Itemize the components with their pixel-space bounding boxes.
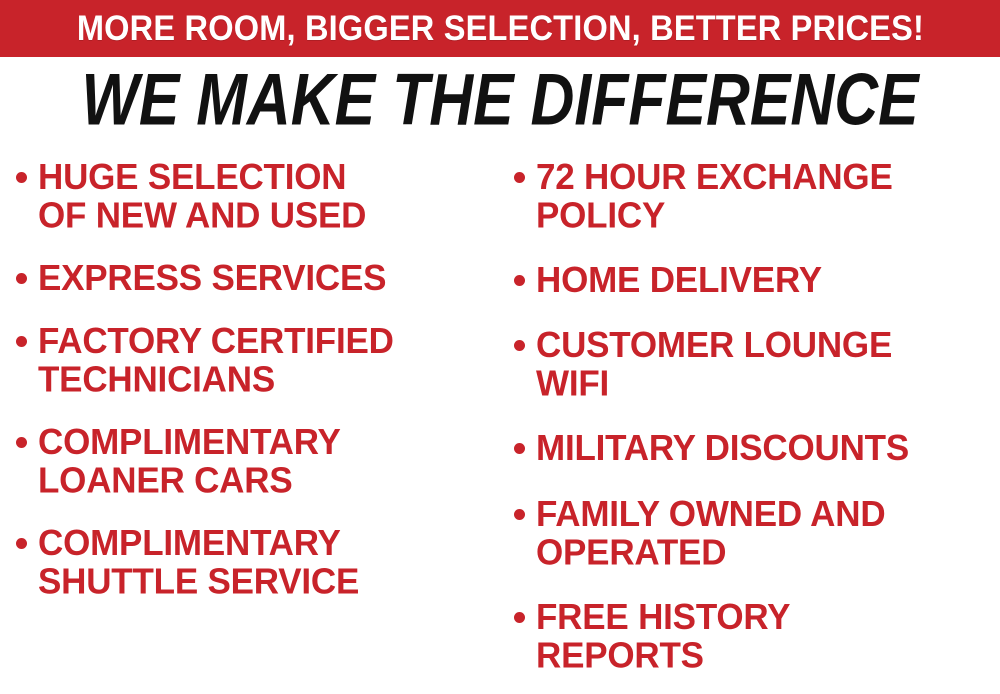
list-item-label: FACTORY CERTIFIED TECHNICIANS [38, 322, 394, 400]
list-item-label: 72 HOUR EXCHANGE POLICY [536, 158, 893, 236]
list-item-label: CUSTOMER LOUNGE WIFI [536, 326, 892, 404]
bullet-dot-icon [514, 275, 525, 286]
list-item-label: HOME DELIVERY [536, 261, 822, 300]
bullet-dot-icon [514, 340, 525, 351]
list-item: FREE HISTORY REPORTS [514, 598, 1000, 673]
banner-headline-text: MORE ROOM, BIGGER SELECTION, BETTER PRIC… [76, 11, 923, 46]
list-item: 72 HOUR EXCHANGE POLICY [514, 158, 1000, 233]
list-item-label: EXPRESS SERVICES [38, 259, 386, 298]
bullet-dot-icon [514, 443, 525, 454]
list-item-label: FAMILY OWNED AND OPERATED [536, 495, 885, 573]
list-item: MILITARY DISCOUNTS [514, 429, 1000, 466]
main-headline: WE MAKE THE DIFFERENCE [81, 64, 918, 137]
list-item-label: COMPLIMENTARY LOANER CARS [38, 423, 341, 501]
list-item: EXPRESS SERVICES [16, 259, 500, 296]
bullet-dot-icon [16, 538, 27, 549]
list-item: CUSTOMER LOUNGE WIFI [514, 326, 1000, 401]
list-item: HOME DELIVERY [514, 261, 1000, 298]
top-banner: MORE ROOM, BIGGER SELECTION, BETTER PRIC… [0, 0, 1000, 57]
list-item-label: MILITARY DISCOUNTS [536, 429, 909, 468]
headline-container: WE MAKE THE DIFFERENCE [0, 62, 1000, 140]
bullet-dot-icon [514, 612, 525, 623]
list-item-label: COMPLIMENTARY SHUTTLE SERVICE [38, 524, 359, 602]
list-item-label: HUGE SELECTION OF NEW AND USED [38, 158, 366, 236]
benefits-columns: HUGE SELECTION OF NEW AND USED EXPRESS S… [0, 152, 1000, 694]
list-item-label: FREE HISTORY REPORTS [536, 598, 790, 676]
list-item: COMPLIMENTARY LOANER CARS [16, 423, 500, 498]
bullet-dot-icon [16, 172, 27, 183]
list-item: HUGE SELECTION OF NEW AND USED [16, 158, 500, 233]
bullet-dot-icon [16, 273, 27, 284]
bullet-dot-icon [16, 437, 27, 448]
benefits-column-right: 72 HOUR EXCHANGE POLICY HOME DELIVERY CU… [500, 152, 1000, 694]
benefits-column-left: HUGE SELECTION OF NEW AND USED EXPRESS S… [0, 152, 500, 625]
bullet-dot-icon [16, 336, 27, 347]
bullet-dot-icon [514, 509, 525, 520]
bullet-dot-icon [514, 172, 525, 183]
list-item: FAMILY OWNED AND OPERATED [514, 495, 1000, 570]
list-item: COMPLIMENTARY SHUTTLE SERVICE [16, 524, 500, 599]
promo-poster: MORE ROOM, BIGGER SELECTION, BETTER PRIC… [0, 0, 1000, 694]
list-item: FACTORY CERTIFIED TECHNICIANS [16, 322, 500, 397]
